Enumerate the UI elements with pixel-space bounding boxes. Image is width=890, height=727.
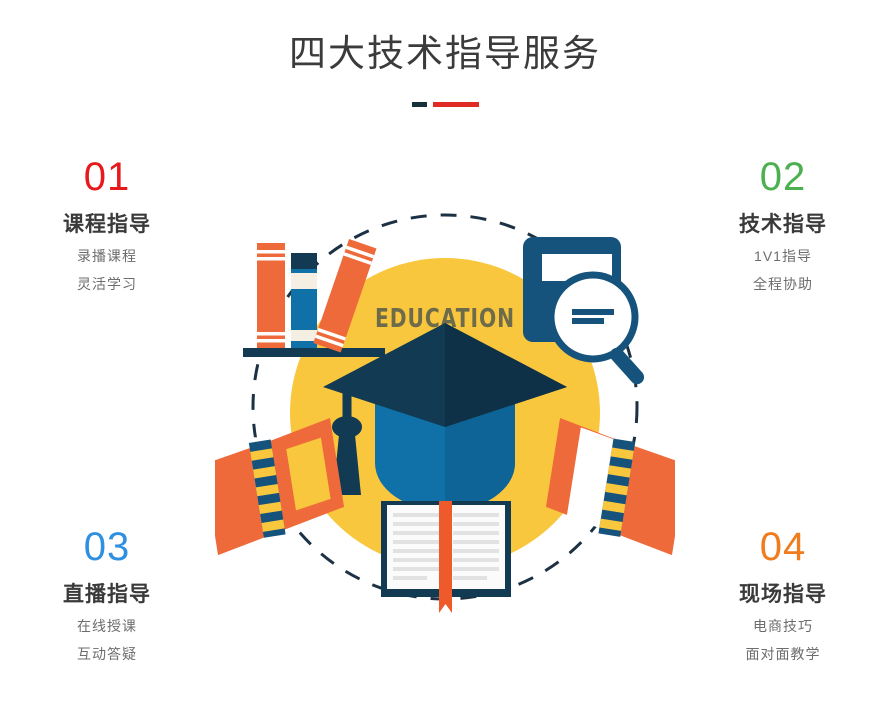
service-sub-03-line1: 在线授课 [12,612,202,640]
service-sub-01-line1: 录播课程 [12,242,202,270]
service-number-01: 01 [12,152,202,202]
service-title-01: 课程指导 [12,208,202,242]
service-item-01[interactable]: 01 课程指导 录播课程 灵活学习 [12,152,202,298]
open-book-left-icon [215,418,348,555]
service-number-03: 03 [12,522,202,572]
service-sub-03-line2: 互动答疑 [12,640,202,668]
service-sub-02-line2: 全程协助 [688,270,878,298]
magnifier-handle [607,345,647,387]
service-sub-02-line1: 1V1指导 [688,242,878,270]
service-item-03[interactable]: 03 直播指导 在线授课 互动答疑 [12,522,202,668]
open-book-bottom-icon [381,501,511,613]
page-header: 四大技术指导服务 [0,0,890,130]
page-title: 四大技术指导服务 [0,30,890,78]
open-book-right-icon [542,418,675,555]
service-title-02: 技术指导 [688,208,878,242]
service-item-02[interactable]: 02 技术指导 1V1指导 全程协助 [688,152,878,298]
divider-dash [412,102,427,107]
magnifier-lens [551,275,635,359]
service-number-04: 04 [688,522,878,572]
service-number-02: 02 [688,152,878,202]
service-item-04[interactable]: 04 现场指导 电商技巧 面对面教学 [688,522,878,668]
service-sub-01-line2: 灵活学习 [12,270,202,298]
service-title-04: 现场指导 [688,578,878,612]
service-sub-04-line1: 电商技巧 [688,612,878,640]
service-sub-04-line2: 面对面教学 [688,640,878,668]
service-title-03: 直播指导 [12,578,202,612]
education-illustration: EDUCATION [215,205,675,620]
title-divider [0,100,890,108]
divider-bar [433,102,479,107]
